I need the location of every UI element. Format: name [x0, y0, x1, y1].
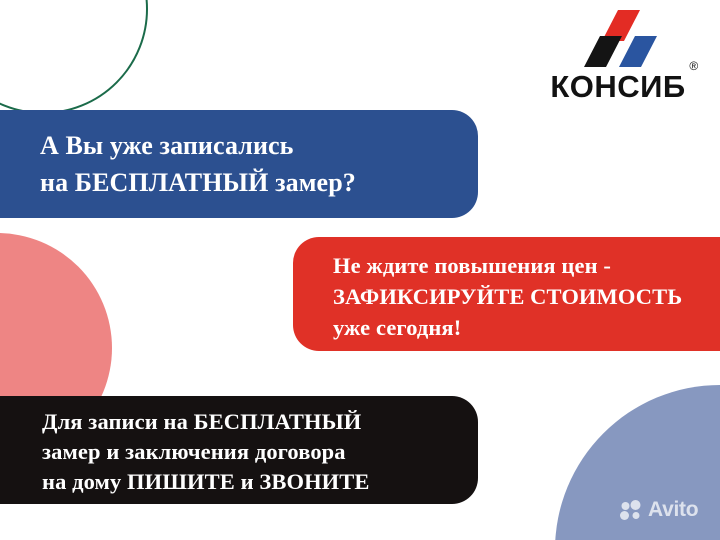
avito-watermark: Avito — [620, 499, 698, 520]
black-cta-line-3: на дому ПИШИТЕ и ЗВОНИТЕ — [42, 467, 478, 497]
registered-trademark-icon: ® — [689, 60, 698, 72]
black-cta-line-1: Для записи на БЕСПЛАТНЫЙ — [42, 407, 478, 437]
avito-dots-icon — [620, 500, 644, 520]
blue-headline-line-2: на БЕСПЛАТНЫЙ замер? — [40, 164, 478, 201]
avito-watermark-label: Avito — [648, 499, 698, 520]
red-promo-line-2: ЗАФИКСИРУЙТЕ СТОИМОСТЬ — [333, 281, 720, 312]
green-ring-decoration — [0, 0, 148, 114]
logo-wordmark: КОНСИБ ® — [550, 71, 685, 102]
red-promo-block: Не ждите повышения цен - ЗАФИКСИРУЙТЕ СТ… — [293, 237, 720, 351]
logo-wordmark-text: КОНСИБ — [550, 69, 685, 104]
red-promo-line-1: Не ждите повышения цен - — [333, 250, 720, 281]
blue-headline-block: А Вы уже записались на БЕСПЛАТНЫЙ замер? — [0, 110, 478, 218]
red-promo-line-3: уже сегодня! — [333, 312, 720, 343]
black-cta-line-2: замер и заключения договора — [42, 437, 478, 467]
blue-headline-line-1: А Вы уже записались — [40, 127, 478, 164]
logo-mark-icon — [530, 8, 706, 70]
brand-logo: КОНСИБ ® — [530, 8, 706, 102]
black-cta-block: Для записи на БЕСПЛАТНЫЙ замер и заключе… — [0, 396, 478, 504]
advertisement-canvas: КОНСИБ ® А Вы уже записались на БЕСПЛАТН… — [0, 0, 720, 540]
